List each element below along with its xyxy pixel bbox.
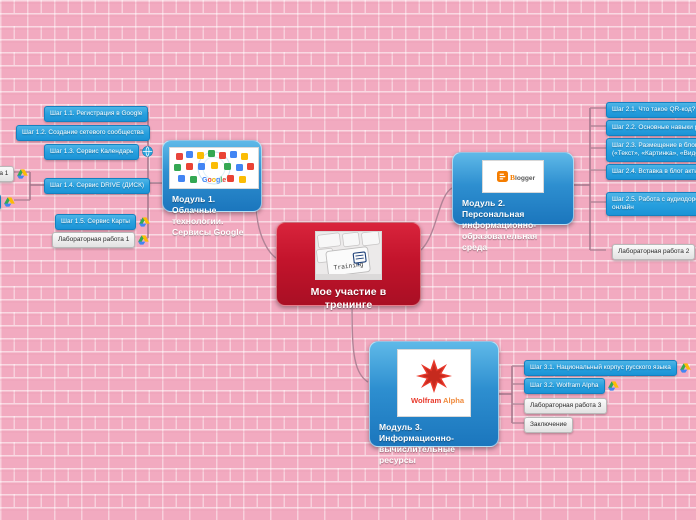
- svg-text:Alpha: Alpha: [443, 396, 465, 405]
- central-node[interactable]: Training Мое участие в тренинге: [276, 222, 421, 306]
- google-drive-icon: [680, 363, 691, 373]
- svg-text:logger: logger: [515, 175, 536, 182]
- module2-child-1[interactable]: Шаг 2.1. Что такое QR-код?: [606, 102, 696, 118]
- module2-child-5[interactable]: Шаг 2.5. Работа с аудиодорож онлайн: [606, 192, 696, 216]
- google-drive-icon: [138, 235, 149, 245]
- google-drive-icon: [608, 381, 619, 391]
- leaf-pill[interactable]: Шаг 1.4. Сервис DRIVE (ДИСК): [44, 178, 150, 194]
- module3-child-2[interactable]: Шаг 3.2. Wolfram Alpha: [524, 378, 619, 394]
- module3-child-1[interactable]: Шаг 3.1. Национальный корпус русского яз…: [524, 360, 691, 376]
- leaf-pill[interactable]: Шаг 3.1. Национальный корпус русского яз…: [524, 360, 677, 376]
- module2-image: B logger: [482, 160, 544, 193]
- globe-icon: [142, 146, 153, 157]
- leaf-pill[interactable]: Карты: [0, 194, 1, 210]
- leaf-pill[interactable]: Шаг 2.4. Вставка в блог акти: [606, 164, 696, 180]
- module1-node[interactable]: Google Модуль 1. Облачные технологии. Се…: [162, 140, 262, 212]
- module1-child-2[interactable]: Шаг 1.2. Создание сетевого сообщества: [16, 125, 150, 141]
- module2-child-3[interactable]: Шаг 2.3. Размещение в блоге («Текст», «К…: [606, 138, 696, 162]
- module2-child-2[interactable]: Шаг 2.2. Основные навыки р: [606, 120, 696, 136]
- module3-node[interactable]: Wolfram Alpha Модуль 3. Информационно-вы…: [369, 341, 499, 447]
- google-drive-icon: [4, 197, 15, 207]
- module1-child-4[interactable]: Шаг 1.4. Сервис DRIVE (ДИСК): [44, 178, 150, 194]
- leaf-pill[interactable]: Лабораторная работа 2: [612, 244, 695, 260]
- module1-child-5[interactable]: Шаг 1.5. Сервис Карты: [55, 214, 150, 230]
- module2-child-4[interactable]: Шаг 2.4. Вставка в блог акти: [606, 164, 696, 180]
- module1-label: Модуль 1. Облачные технологии. Сервисы G…: [169, 189, 255, 239]
- google-drive-icon: [17, 169, 28, 179]
- leaf-pill[interactable]: Шаг 3.2. Wolfram Alpha: [524, 378, 605, 394]
- leaf-pill[interactable]: Шаг 2.2. Основные навыки р: [606, 120, 696, 136]
- leaf-pill[interactable]: Шаг 2.3. Размещение в блоге («Текст», «К…: [606, 138, 696, 162]
- module1-child-3[interactable]: Шаг 1.3. Сервис Календарь: [44, 144, 153, 160]
- module1-image: Google: [169, 147, 259, 189]
- module1-child-1[interactable]: Шаг 1.1. Регистрация в Google: [44, 106, 148, 122]
- module3-label: Модуль 3. Информационно-вычислительные р…: [376, 417, 492, 467]
- leaf-pill[interactable]: Заключение: [524, 417, 573, 433]
- module2-child-6[interactable]: Лабораторная работа 2: [612, 244, 695, 260]
- module3-image: Wolfram Alpha: [397, 349, 471, 417]
- svg-text:Wolfram: Wolfram: [411, 396, 441, 405]
- module2-node[interactable]: B logger Модуль 2. Персональная информац…: [452, 152, 574, 225]
- leaf-pill[interactable]: работа 1: [0, 166, 14, 182]
- leaf-pill[interactable]: Шаг 2.5. Работа с аудиодорож онлайн: [606, 192, 696, 216]
- module1-offscreen-child-1[interactable]: работа 1: [0, 166, 28, 182]
- svg-text:Google: Google: [202, 177, 226, 184]
- leaf-pill[interactable]: Шаг 1.1. Регистрация в Google: [44, 106, 148, 122]
- central-node-label: Мое участие в тренинге: [283, 280, 414, 313]
- leaf-pill[interactable]: Лабораторная работа 1: [52, 232, 135, 248]
- google-drive-icon: [139, 217, 150, 227]
- leaf-pill[interactable]: Шаг 1.3. Сервис Календарь: [44, 144, 139, 160]
- central-node-image: Training: [315, 231, 382, 280]
- leaf-pill[interactable]: Шаг 2.1. Что такое QR-код?: [606, 102, 696, 118]
- module2-label: Модуль 2. Персональная информационно-обр…: [459, 193, 567, 254]
- leaf-pill[interactable]: Шаг 1.5. Сервис Карты: [55, 214, 136, 230]
- leaf-pill[interactable]: Лабораторная работа 3: [524, 398, 607, 414]
- leaf-pill[interactable]: Шаг 1.2. Создание сетевого сообщества: [16, 125, 150, 141]
- module3-child-3[interactable]: Лабораторная работа 3: [524, 398, 607, 414]
- module1-child-6[interactable]: Лабораторная работа 1: [52, 232, 149, 248]
- module3-child-4[interactable]: Заключение: [524, 417, 573, 433]
- module1-offscreen-child-2[interactable]: Карты: [0, 194, 15, 210]
